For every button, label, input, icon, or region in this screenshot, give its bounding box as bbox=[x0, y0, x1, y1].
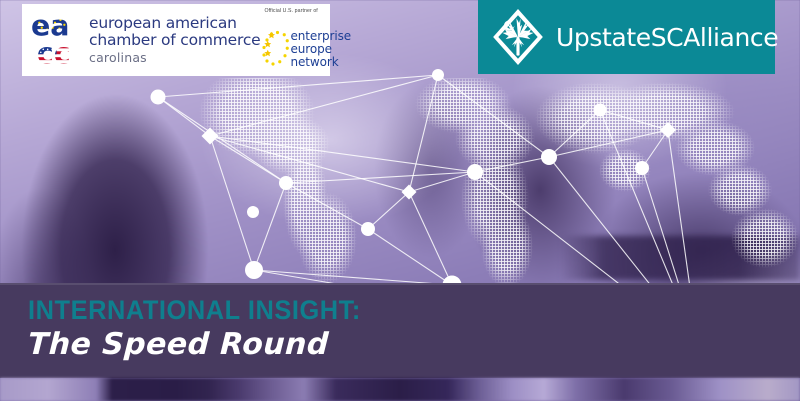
network-node bbox=[151, 90, 166, 105]
eacc-logo-card[interactable]: ea cc bbox=[22, 4, 330, 76]
network-edge bbox=[286, 172, 475, 183]
network-node bbox=[467, 164, 483, 180]
banner-subtitle: The Speed Round bbox=[27, 327, 330, 362]
title-banner: INTERNATIONAL INSIGHT: The Speed Round bbox=[0, 283, 800, 378]
email-header-graphic: ea cc bbox=[0, 0, 800, 401]
een-partner-note: Official U.S. partner of bbox=[265, 8, 318, 14]
network-node bbox=[361, 222, 375, 236]
network-edge bbox=[600, 110, 668, 130]
eacc-line-2: chamber of commerce bbox=[89, 32, 261, 49]
network-edge bbox=[158, 97, 286, 183]
eacc-wordmark: european american chamber of commerce ca… bbox=[89, 15, 261, 65]
network-edge bbox=[286, 183, 368, 229]
network-edge bbox=[254, 183, 286, 270]
network-edge bbox=[549, 130, 668, 157]
upstate-sc-alliance-logo-card[interactable]: UpstateSCAlliance bbox=[478, 0, 775, 74]
network-edge bbox=[210, 136, 254, 270]
network-node bbox=[202, 128, 219, 145]
eacc-monogram-icon: ea cc bbox=[30, 11, 84, 69]
network-node bbox=[541, 149, 557, 165]
eacc-sublabel: carolinas bbox=[89, 50, 261, 65]
banner-top-edge bbox=[0, 283, 800, 285]
network-edge bbox=[210, 136, 286, 183]
network-node bbox=[245, 261, 263, 279]
network-node bbox=[635, 161, 649, 175]
network-node bbox=[660, 122, 676, 138]
network-edge bbox=[475, 157, 549, 172]
network-edge bbox=[210, 136, 475, 172]
eu-stars-circle-icon bbox=[261, 27, 291, 71]
een-line-1: enterprise bbox=[291, 30, 352, 43]
banner-title: INTERNATIONAL INSIGHT: bbox=[28, 295, 361, 326]
bottom-photo-strip bbox=[0, 378, 800, 401]
eacc-line-1: european american bbox=[89, 15, 261, 32]
network-edge bbox=[549, 110, 600, 157]
network-edge bbox=[210, 136, 409, 192]
network-node bbox=[432, 69, 444, 81]
network-node bbox=[279, 176, 293, 190]
palmetto-crescent-diamond-icon bbox=[492, 8, 544, 66]
network-node bbox=[247, 206, 259, 218]
upstate-wordmark: UpstateSCAlliance bbox=[556, 23, 778, 52]
een-line-3: network bbox=[291, 56, 352, 69]
network-node bbox=[594, 104, 607, 117]
network-edge bbox=[438, 75, 549, 157]
een-line-2: europe bbox=[291, 43, 352, 56]
network-edge bbox=[368, 192, 409, 229]
enterprise-europe-network-logo[interactable]: Official U.S. partner of bbox=[261, 6, 345, 74]
